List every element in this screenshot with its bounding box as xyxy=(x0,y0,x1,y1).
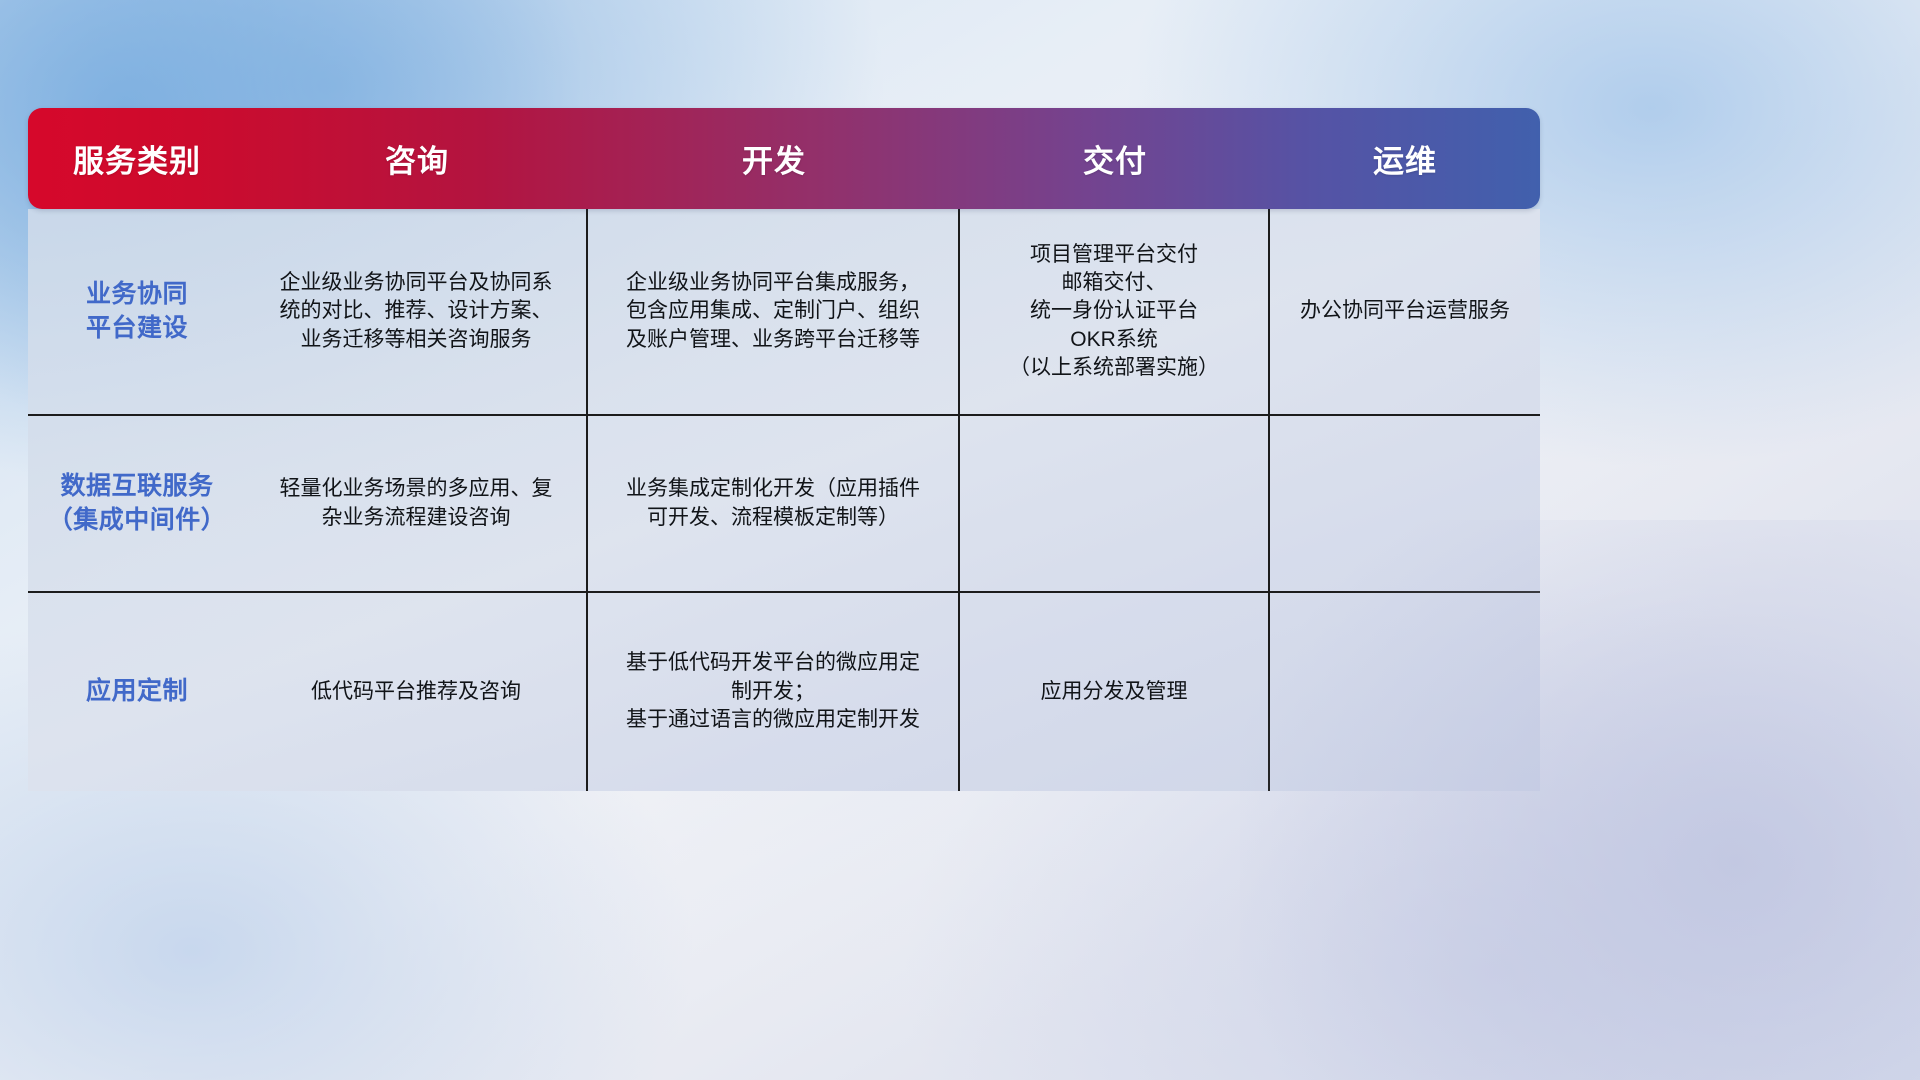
row-development-cell: 企业级业务协同平台集成服务， 包含应用集成、定制门户、组织 及账户管理、业务跨平… xyxy=(588,209,960,414)
row-category-cell: 数据互联服务 （集成中间件） xyxy=(28,416,246,591)
row-category-label: 业务协同 平台建设 xyxy=(86,278,188,346)
header-label: 咨询 xyxy=(385,136,449,181)
row-operations-cell: 办公协同平台运营服务 xyxy=(1270,209,1540,414)
row-development-cell: 业务集成定制化开发（应用插件 可开发、流程模板定制等） xyxy=(588,416,960,591)
cell-text: 企业级业务协同平台及协同系 统的对比、推荐、设计方案、 业务迁移等相关咨询服务 xyxy=(280,269,553,354)
row-category-label: 数据互联服务 （集成中间件） xyxy=(48,470,227,538)
table-body: 业务协同 平台建设 企业级业务协同平台及协同系 统的对比、推荐、设计方案、 业务… xyxy=(28,209,1540,791)
row-delivery-cell xyxy=(960,416,1270,591)
row-delivery-cell: 应用分发及管理 xyxy=(960,593,1270,791)
slide-canvas: 服务类别 咨询 开发 交付 运维 业务协同 平台建设 xyxy=(0,0,1920,1080)
row-delivery-cell: 项目管理平台交付 邮箱交付、 统一身份认证平台 OKR系统 （以上系统部署实施） xyxy=(960,209,1270,414)
cell-text: 办公协同平台运营服务 xyxy=(1300,297,1510,325)
header-cell-service-category: 服务类别 xyxy=(28,108,246,209)
cell-text: 应用分发及管理 xyxy=(1041,678,1188,706)
row-category-label: 应用定制 xyxy=(86,675,188,709)
header-cell-operations: 运维 xyxy=(1270,108,1540,209)
row-development-cell: 基于低代码开发平台的微应用定 制开发； 基于通过语言的微应用定制开发 xyxy=(588,593,960,791)
row-consulting-cell: 企业级业务协同平台及协同系 统的对比、推荐、设计方案、 业务迁移等相关咨询服务 xyxy=(246,209,588,414)
service-category-table: 服务类别 咨询 开发 交付 运维 业务协同 平台建设 xyxy=(28,108,1540,791)
row-consulting-cell: 轻量化业务场景的多应用、复 杂业务流程建设咨询 xyxy=(246,416,588,591)
header-label: 开发 xyxy=(742,136,806,181)
header-cell-consulting: 咨询 xyxy=(246,108,588,209)
header-label: 服务类别 xyxy=(73,136,201,181)
table-row: 应用定制 低代码平台推荐及咨询 基于低代码开发平台的微应用定 制开发； 基于通过… xyxy=(28,591,1540,791)
cell-text: 低代码平台推荐及咨询 xyxy=(311,678,521,706)
row-operations-cell xyxy=(1270,416,1540,591)
row-consulting-cell: 低代码平台推荐及咨询 xyxy=(246,593,588,791)
cell-text: 项目管理平台交付 邮箱交付、 统一身份认证平台 OKR系统 （以上系统部署实施） xyxy=(1009,241,1219,383)
header-label: 运维 xyxy=(1373,136,1437,181)
cell-text: 轻量化业务场景的多应用、复 杂业务流程建设咨询 xyxy=(280,475,553,532)
row-operations-cell xyxy=(1270,593,1540,791)
table-row: 业务协同 平台建设 企业级业务协同平台及协同系 统的对比、推荐、设计方案、 业务… xyxy=(28,209,1540,414)
table-header-row: 服务类别 咨询 开发 交付 运维 xyxy=(28,108,1540,209)
cell-text: 企业级业务协同平台集成服务， 包含应用集成、定制门户、组织 及账户管理、业务跨平… xyxy=(626,269,920,354)
row-category-cell: 业务协同 平台建设 xyxy=(28,209,246,414)
cell-text: 业务集成定制化开发（应用插件 可开发、流程模板定制等） xyxy=(626,475,920,532)
header-cell-development: 开发 xyxy=(588,108,960,209)
header-cell-delivery: 交付 xyxy=(960,108,1270,209)
row-category-cell: 应用定制 xyxy=(28,593,246,791)
header-label: 交付 xyxy=(1083,136,1147,181)
cell-text: 基于低代码开发平台的微应用定 制开发； 基于通过语言的微应用定制开发 xyxy=(626,649,920,734)
table-row: 数据互联服务 （集成中间件） 轻量化业务场景的多应用、复 杂业务流程建设咨询 业… xyxy=(28,414,1540,591)
